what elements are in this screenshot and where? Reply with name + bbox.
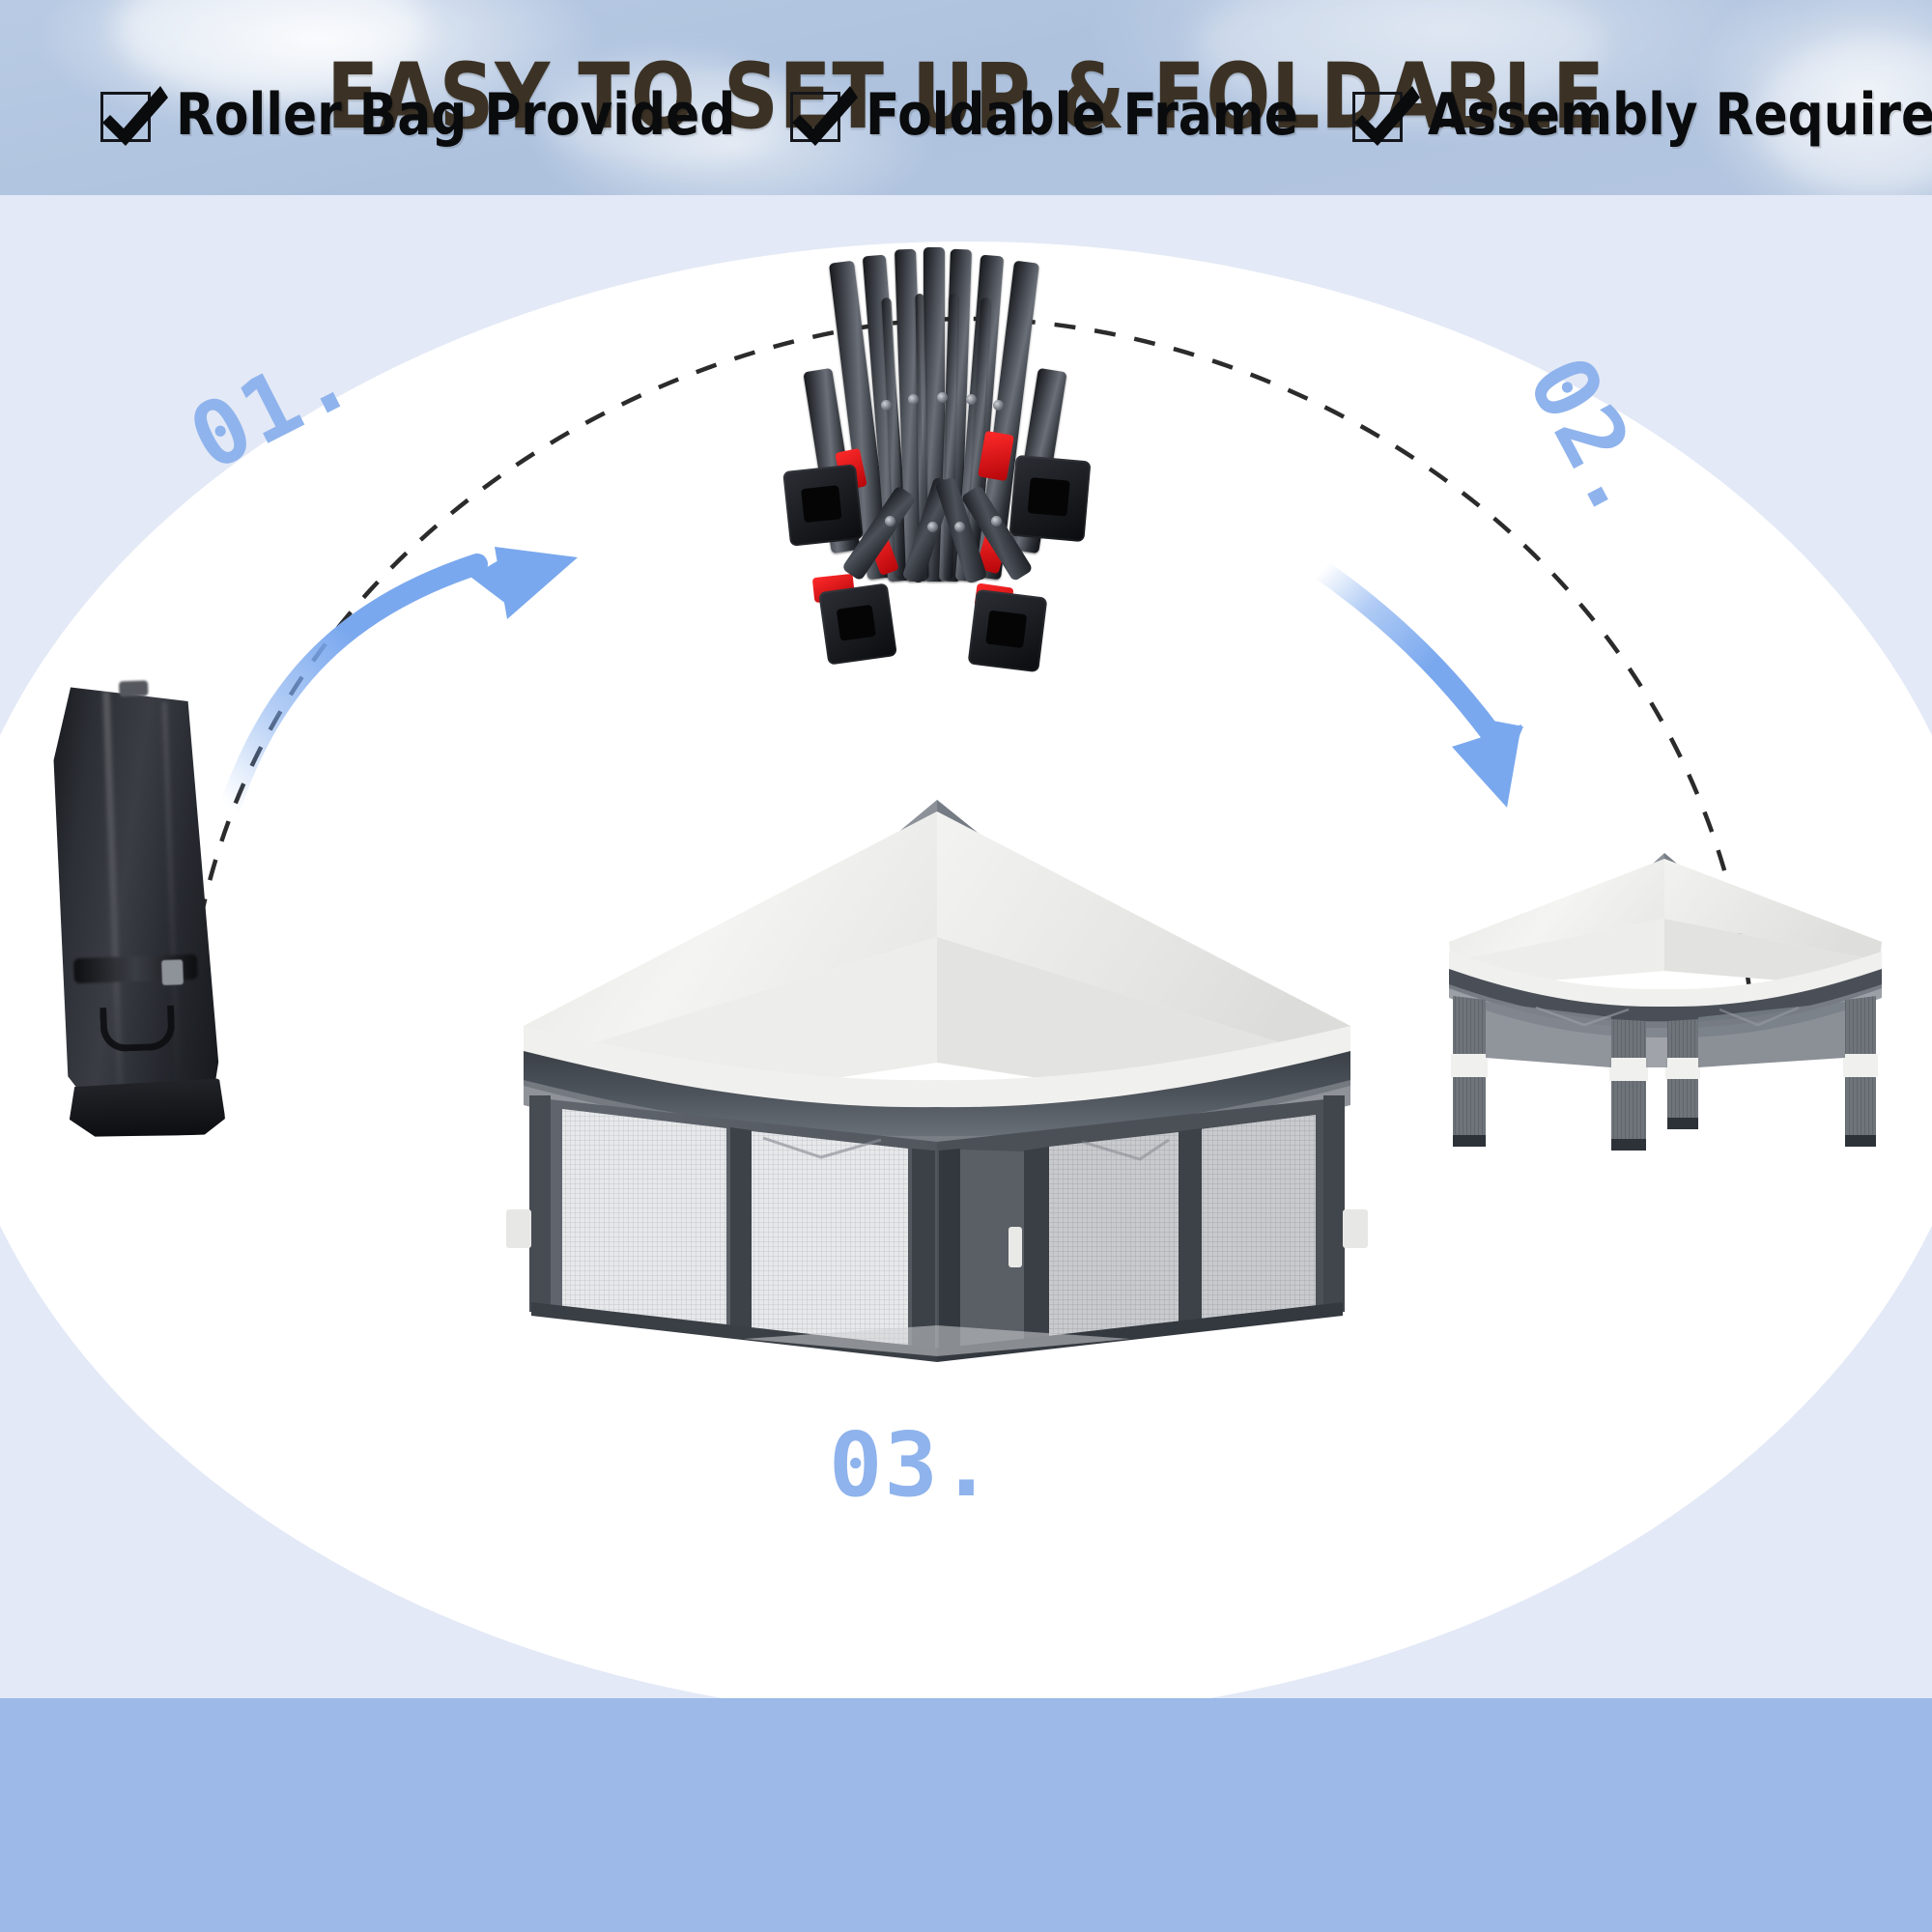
roller-bag-image [44, 673, 222, 1131]
feature-label: Roller Bag Provided [176, 81, 735, 149]
feature-item-foldable-frame: Foldable Frame [790, 81, 1317, 149]
infographic-canvas: EASY TO SET UP & FOLDABLE [0, 0, 1932, 1932]
feature-label: Foldable Frame [866, 81, 1298, 149]
feature-band [0, 1698, 1932, 1932]
feature-item-roller-bag: Roller Bag Provided [100, 81, 759, 149]
folded-frame-image [792, 269, 1082, 674]
assembled-gazebo-image [502, 773, 1372, 1391]
small-gazebo-image [1439, 826, 1893, 1154]
feature-list: Roller Bag Provided Foldable Frame Assem… [0, 0, 1932, 234]
checkbox-checked-icon [790, 88, 844, 142]
step-three-label: 03. [829, 1413, 995, 1517]
checkbox-checked-icon [100, 88, 155, 142]
checkbox-checked-icon [1352, 88, 1406, 142]
feature-item-assembly-required: Assembly Required [1352, 81, 1932, 149]
feature-label: Assembly Required [1428, 81, 1932, 149]
